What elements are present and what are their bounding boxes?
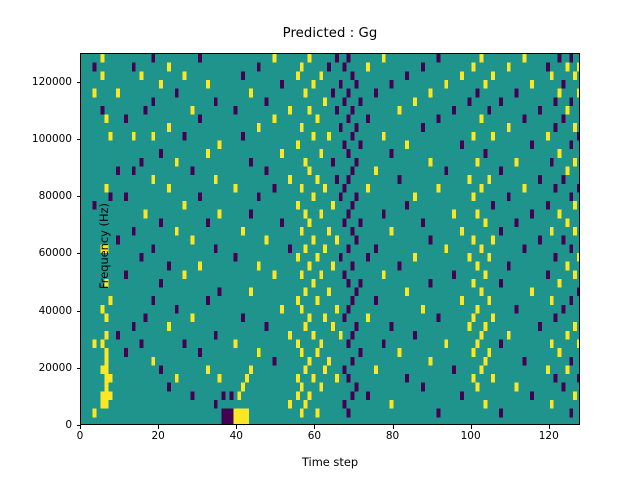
- x-tick-label: 100: [461, 430, 481, 442]
- x-axis-label: Time step: [80, 455, 580, 469]
- matplotlib-figure: Predicted : Gg 0200004000060000800001000…: [0, 0, 640, 480]
- heatmap-axes: [80, 53, 580, 425]
- y-tick-label: 0: [65, 419, 72, 431]
- heatmap-image: [81, 54, 580, 425]
- x-tick-mark: [314, 425, 315, 429]
- x-tick-mark: [393, 425, 394, 429]
- x-tick-label: 120: [539, 430, 559, 442]
- y-tick-label: 80000: [39, 190, 72, 202]
- y-tick-label: 20000: [39, 362, 72, 374]
- x-tick-label: 40: [230, 430, 243, 442]
- x-tick-label: 80: [386, 430, 399, 442]
- y-tick-mark: [77, 82, 81, 83]
- x-tick-label: 0: [77, 430, 84, 442]
- x-tick-label: 60: [308, 430, 321, 442]
- plot-title: Predicted : Gg: [80, 26, 580, 41]
- y-tick-label: 100000: [32, 133, 72, 145]
- x-tick-mark: [549, 425, 550, 429]
- x-tick-mark: [236, 425, 237, 429]
- x-tick-mark: [158, 425, 159, 429]
- y-tick-label: 60000: [39, 247, 72, 259]
- y-tick-mark: [77, 196, 81, 197]
- y-tick-label: 40000: [39, 305, 72, 317]
- y-axis-label: Frequency (Hz): [97, 60, 111, 432]
- y-tick-mark: [77, 368, 81, 369]
- y-tick-mark: [77, 139, 81, 140]
- x-tick-mark: [80, 425, 81, 429]
- y-tick-label: 120000: [32, 76, 72, 88]
- y-tick-mark: [77, 311, 81, 312]
- x-tick-label: 20: [151, 430, 164, 442]
- x-tick-mark: [471, 425, 472, 429]
- y-tick-mark: [77, 253, 81, 254]
